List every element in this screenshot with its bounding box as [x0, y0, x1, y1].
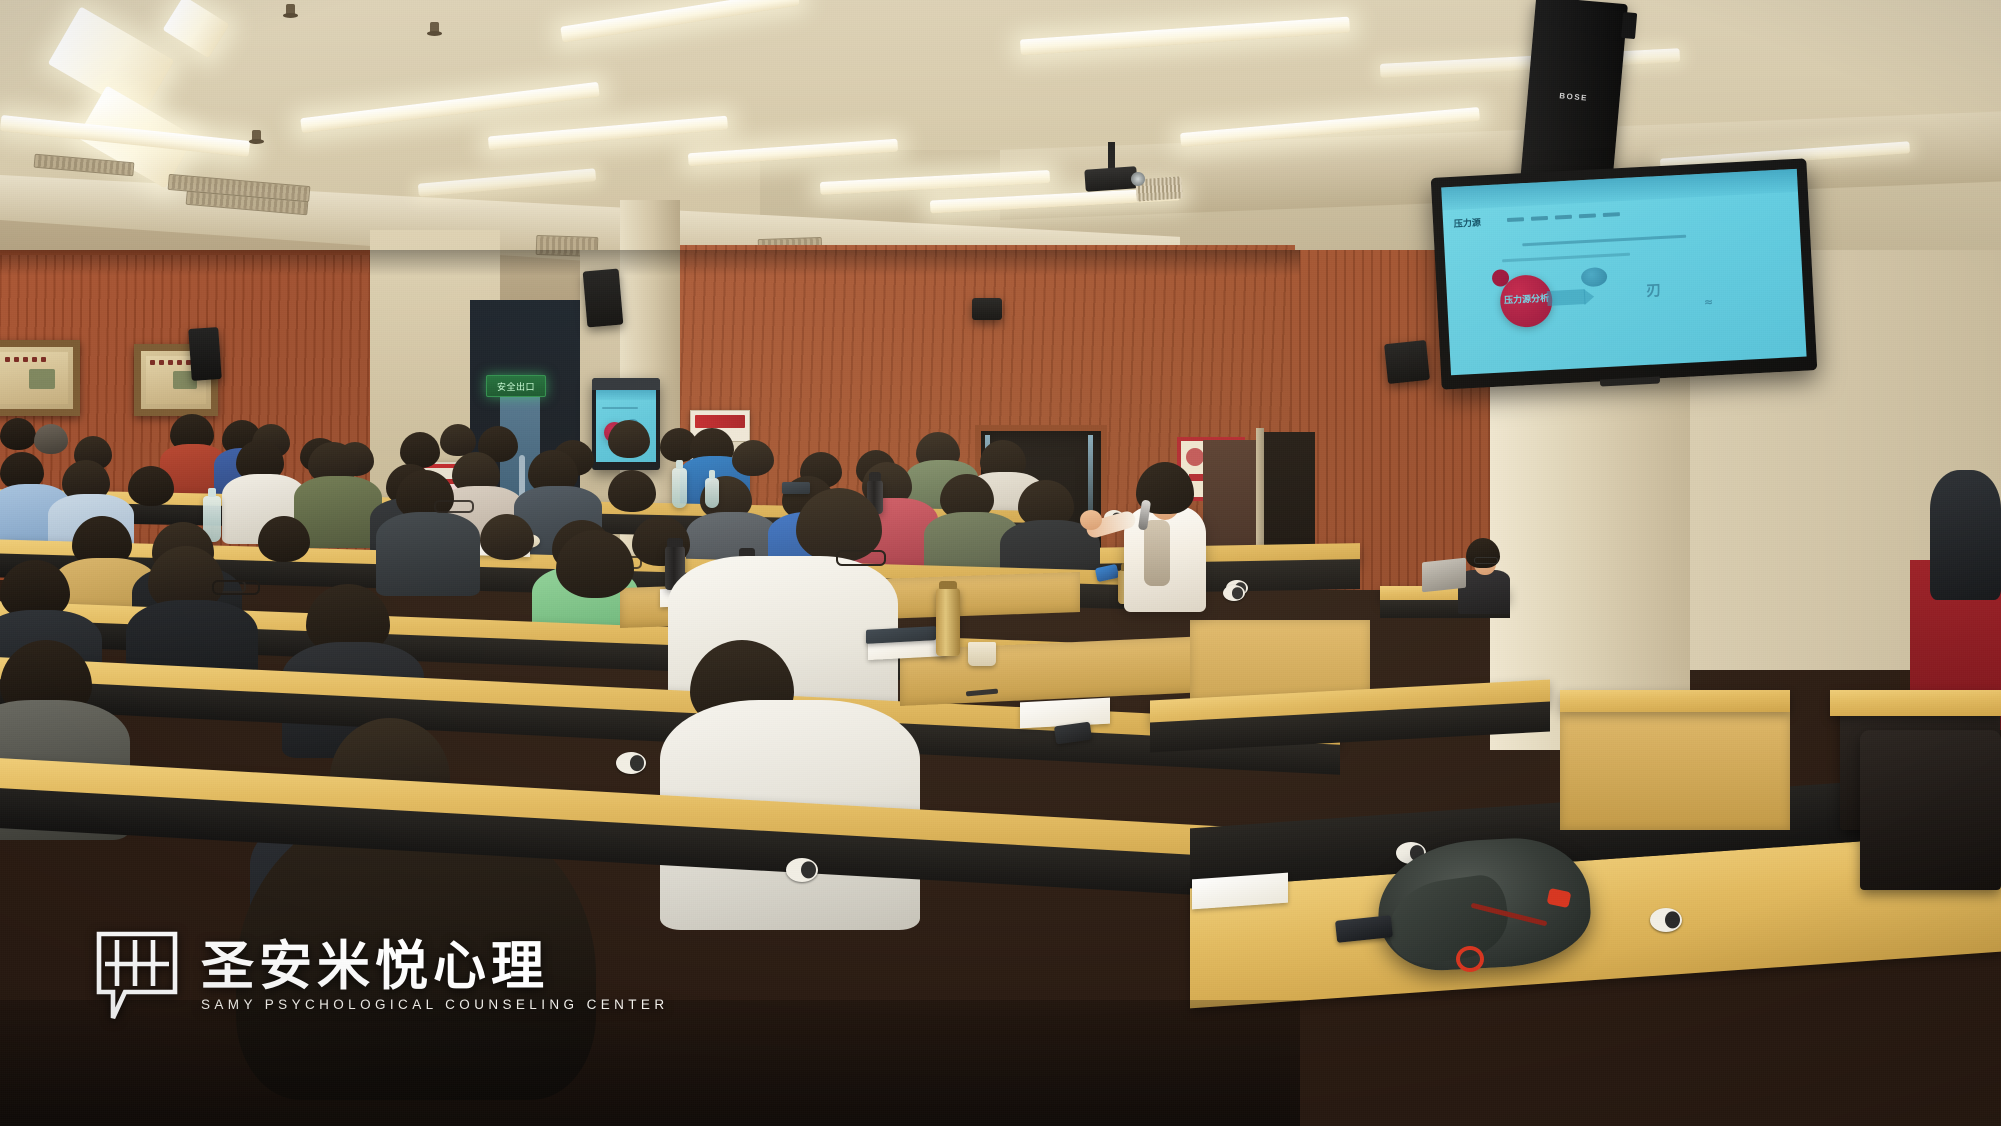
- sprinkler-head-icon: [430, 22, 439, 35]
- watermark-chinese-name: 圣安米悦心理: [201, 940, 668, 993]
- bose-speaker: BOSE: [1520, 0, 1628, 190]
- jacket-red-loop: [1456, 946, 1484, 972]
- slide-glyph-text: 刃: [1646, 279, 1662, 301]
- audience-body: [376, 512, 480, 596]
- presenter-hand: [1080, 510, 1102, 530]
- slide-red-circle: 压力源分析: [1499, 274, 1554, 329]
- audience-head: [400, 432, 440, 468]
- audience-head: [128, 466, 174, 506]
- laptop: [1422, 558, 1466, 593]
- audience-head: [258, 516, 310, 562]
- slide-top-bar: [1441, 169, 1798, 210]
- eyeglasses-icon: [836, 550, 886, 566]
- desk-power-outlet[interactable]: [1650, 908, 1682, 932]
- desk-right-top: [1560, 690, 1790, 712]
- desk-right-top: [1830, 690, 2001, 716]
- paper-cup: [968, 642, 996, 666]
- notebook: [782, 482, 810, 494]
- audience-head: [732, 440, 774, 476]
- wall-speaker-small: [972, 298, 1002, 320]
- speaker-brand-label: BOSE: [1559, 91, 1588, 102]
- chair[interactable]: [1860, 730, 2001, 890]
- desk-power-outlet[interactable]: [616, 752, 646, 774]
- wall-speaker-small: [188, 327, 222, 381]
- desk-right-panel: [1560, 700, 1790, 830]
- slide-logo-text: 压力源: [1453, 216, 1481, 230]
- sprinkler-head-icon: [252, 130, 261, 143]
- sprinkler-head-icon: [286, 4, 295, 17]
- audience-head: [0, 418, 36, 450]
- slide-blue-ellipse: [1581, 267, 1608, 287]
- wall-shadow-band: [0, 250, 1300, 276]
- wall-speaker-small: [583, 269, 624, 328]
- eyeglasses-icon: [1474, 557, 1498, 564]
- desk-power-outlet[interactable]: [786, 858, 818, 882]
- presenter-scarf: [1144, 520, 1170, 586]
- water-bottle: [705, 478, 719, 508]
- audience-head: [608, 420, 650, 458]
- paper-handout: [1020, 698, 1110, 729]
- audience-head: [440, 424, 476, 456]
- desk-power-outlet[interactable]: [1223, 585, 1245, 601]
- audience-head: [608, 470, 656, 512]
- slide-circle-label: 压力源分析: [1504, 295, 1549, 307]
- exit-sign-label: 安全出口: [497, 380, 535, 393]
- speech-bubble-outline-icon: [95, 930, 179, 1022]
- slide-arrow-icon: [1546, 289, 1585, 306]
- wall-mounted-flat-panel-tv[interactable]: 压力源 压力源分析 刃 ≈: [1431, 158, 1818, 389]
- audience-head: [34, 424, 68, 454]
- gold-thermos: [936, 588, 960, 656]
- eyeglasses-icon: [434, 500, 474, 513]
- watermark-english-name: SAMY PSYCHOLOGICAL COUNSELING CENTER: [201, 997, 668, 1012]
- emergency-exit-sign: 安全出口: [486, 375, 546, 397]
- watermark-logo: 圣安米悦心理 SAMY PSYCHOLOGICAL COUNSELING CEN…: [95, 930, 668, 1022]
- projector: [1084, 166, 1137, 192]
- slide-nav-menu: [1507, 212, 1620, 222]
- slide-glyph-text: ≈: [1704, 296, 1714, 309]
- eyeglasses-icon: [212, 580, 260, 595]
- photograph-lecture-hall: 安全出口 BOSE 压力源: [0, 0, 2001, 1126]
- projector-lens-icon: [1131, 172, 1145, 186]
- audience-head: [480, 514, 534, 560]
- framed-artwork: [0, 340, 80, 416]
- tv-screen-slide: 压力源 压力源分析 刃 ≈: [1441, 169, 1806, 375]
- audience-body-foreground: [1930, 470, 2001, 600]
- wall-speaker-small: [1384, 340, 1430, 384]
- water-bottle: [672, 468, 687, 508]
